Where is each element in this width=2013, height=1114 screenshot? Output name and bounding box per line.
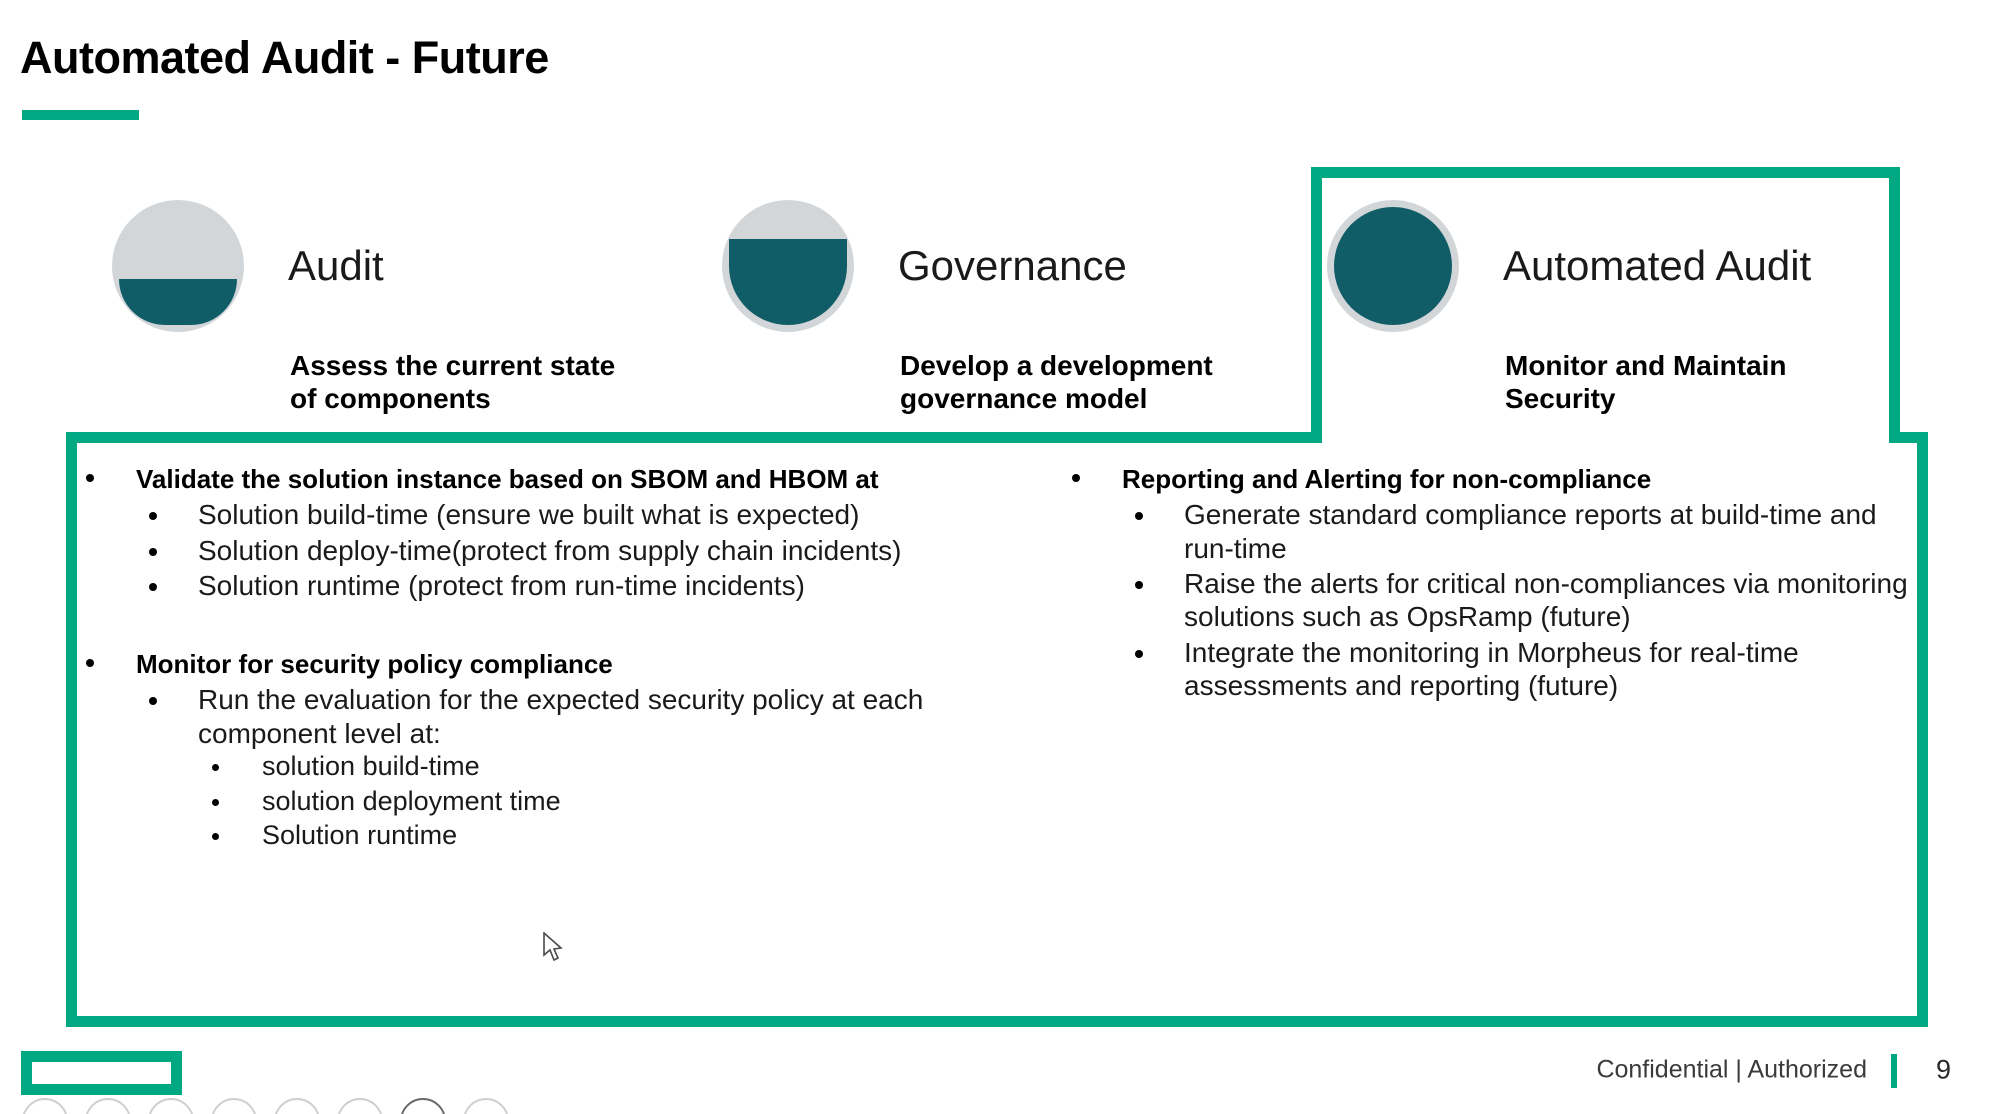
toolbar-minus-icon[interactable] xyxy=(337,1098,383,1114)
bullet-list-right: Reporting and Alerting for non-complianc… xyxy=(1070,463,1920,702)
hpe-logo xyxy=(21,1051,182,1095)
gauge-icon-audit xyxy=(112,200,244,332)
pillar-audit-head: Audit xyxy=(112,200,615,332)
list-item: solution build-time xyxy=(198,750,1014,783)
bullet-text: Integrate the monitoring in Morpheus for… xyxy=(1184,636,1920,703)
toolbar-globe-icon[interactable] xyxy=(274,1098,320,1114)
pillar-audit-description: Assess the current state of components xyxy=(290,350,615,416)
toolbar-circle-icon-1[interactable] xyxy=(22,1098,68,1114)
pillar-automated-audit-desc-line1: Monitor and Maintain xyxy=(1505,350,1811,383)
bullet-text: Solution runtime (protect from run-time … xyxy=(198,569,1014,602)
pillar-audit-name: Audit xyxy=(288,242,384,290)
pillar-automated-audit-description: Monitor and Maintain Security xyxy=(1505,350,1811,416)
list-spacer xyxy=(84,606,1014,644)
list-item: Generate standard compliance reports at … xyxy=(1122,498,1920,565)
page-number: 9 xyxy=(1936,1055,1951,1086)
pillar-audit-desc-line1: Assess the current state xyxy=(290,350,615,383)
bullet-text: solution build-time xyxy=(262,750,1014,783)
bullet-sublist: Solution build-time (ensure we built wha… xyxy=(136,498,1014,602)
bullet-text: solution deployment time xyxy=(262,785,1014,818)
list-item: Monitor for security policy compliance R… xyxy=(84,648,1014,852)
pillar-governance: Governance Develop a development governa… xyxy=(722,200,1213,416)
list-item: Raise the alerts for critical non-compli… xyxy=(1122,567,1920,634)
list-item: Solution deploy-time(protect from supply… xyxy=(136,534,1014,567)
list-item: Validate the solution instance based on … xyxy=(84,463,1014,602)
toolbar-circle-icon-8[interactable] xyxy=(463,1098,509,1114)
bullet-dot-icon xyxy=(1135,512,1143,520)
bullet-dot-icon xyxy=(149,548,157,556)
bullet-dot-icon xyxy=(212,764,219,771)
bullet-heading: Reporting and Alerting for non-complianc… xyxy=(1122,463,1920,496)
bullet-dot-icon xyxy=(86,474,94,482)
bullet-text: Solution build-time (ensure we built wha… xyxy=(198,498,1014,531)
gauge-fill xyxy=(1334,207,1452,325)
pillar-governance-description: Develop a development governance model xyxy=(900,350,1213,416)
bullet-heading: Validate the solution instance based on … xyxy=(136,463,1014,496)
list-item: Solution runtime xyxy=(198,819,1014,852)
bullet-sublist: Run the evaluation for the expected secu… xyxy=(136,683,1014,852)
list-item: solution deployment time xyxy=(198,785,1014,818)
pillar-governance-head: Governance xyxy=(722,200,1213,332)
pillar-audit-desc-line2: of components xyxy=(290,383,615,416)
list-item: Run the evaluation for the expected secu… xyxy=(136,683,1014,852)
bullet-text: Solution deploy-time(protect from supply… xyxy=(198,534,1014,567)
list-item: Solution build-time (ensure we built wha… xyxy=(136,498,1014,531)
gauge-fill xyxy=(119,279,237,325)
content-column-left: Validate the solution instance based on … xyxy=(84,463,1014,856)
bullet-text: Generate standard compliance reports at … xyxy=(1184,498,1920,565)
toolbar-active-icon[interactable] xyxy=(400,1098,446,1114)
bullet-dot-icon xyxy=(1135,650,1143,658)
list-item: Integrate the monitoring in Morpheus for… xyxy=(1122,636,1920,703)
pillar-governance-desc-line1: Develop a development xyxy=(900,350,1213,383)
pillar-automated-audit-desc-line2: Security xyxy=(1505,383,1811,416)
gauge-icon-automated-audit xyxy=(1327,200,1459,332)
bullet-text: Run the evaluation for the expected secu… xyxy=(198,683,1014,750)
bullet-dot-icon xyxy=(1135,581,1143,589)
content-column-right: Reporting and Alerting for non-complianc… xyxy=(1070,463,1920,706)
bullet-dot-icon xyxy=(149,697,157,705)
mouse-cursor xyxy=(543,932,565,964)
bullet-text: Raise the alerts for critical non-compli… xyxy=(1184,567,1920,634)
bullet-dot-icon xyxy=(149,583,157,591)
highlight-box-merge-patch xyxy=(1322,421,1889,445)
bullet-subsublist: solution build-time solution deployment … xyxy=(198,750,1014,852)
bullet-text: Solution runtime xyxy=(262,819,1014,852)
gauge-fill xyxy=(729,239,847,325)
bullet-dot-icon xyxy=(149,512,157,520)
bottom-toolbar xyxy=(0,1098,2013,1114)
pillar-automated-audit-name: Automated Audit xyxy=(1503,242,1811,290)
bullet-heading: Monitor for security policy compliance xyxy=(136,648,1014,681)
pillar-governance-name: Governance xyxy=(898,242,1127,290)
pillar-audit: Audit Assess the current state of compon… xyxy=(112,200,615,416)
bullet-sublist: Generate standard compliance reports at … xyxy=(1122,498,1920,702)
bullet-dot-icon xyxy=(86,659,94,667)
bullet-dot-icon xyxy=(1072,474,1080,482)
list-item: Reporting and Alerting for non-complianc… xyxy=(1070,463,1920,702)
slide-canvas: Automated Audit - Future Audit Assess th… xyxy=(0,0,2013,1114)
title-underline-rule xyxy=(22,110,139,120)
bullet-dot-icon xyxy=(212,799,219,806)
bullet-dot-icon xyxy=(212,833,219,840)
pillar-automated-audit-head: Automated Audit xyxy=(1327,200,1811,332)
footer-classification: Confidential | Authorized xyxy=(1596,1056,1867,1085)
toolbar-grid-icon[interactable] xyxy=(211,1098,257,1114)
gauge-icon-governance xyxy=(722,200,854,332)
page-title: Automated Audit - Future xyxy=(20,32,549,84)
toolbar-circle-icon-2[interactable] xyxy=(85,1098,131,1114)
footer-divider xyxy=(1891,1054,1897,1088)
bullet-list-left: Validate the solution instance based on … xyxy=(84,463,1014,852)
list-item: Solution runtime (protect from run-time … xyxy=(136,569,1014,602)
pillar-governance-desc-line2: governance model xyxy=(900,383,1213,416)
toolbar-home-icon[interactable] xyxy=(148,1098,194,1114)
pillar-automated-audit: Automated Audit Monitor and Maintain Sec… xyxy=(1327,200,1811,416)
